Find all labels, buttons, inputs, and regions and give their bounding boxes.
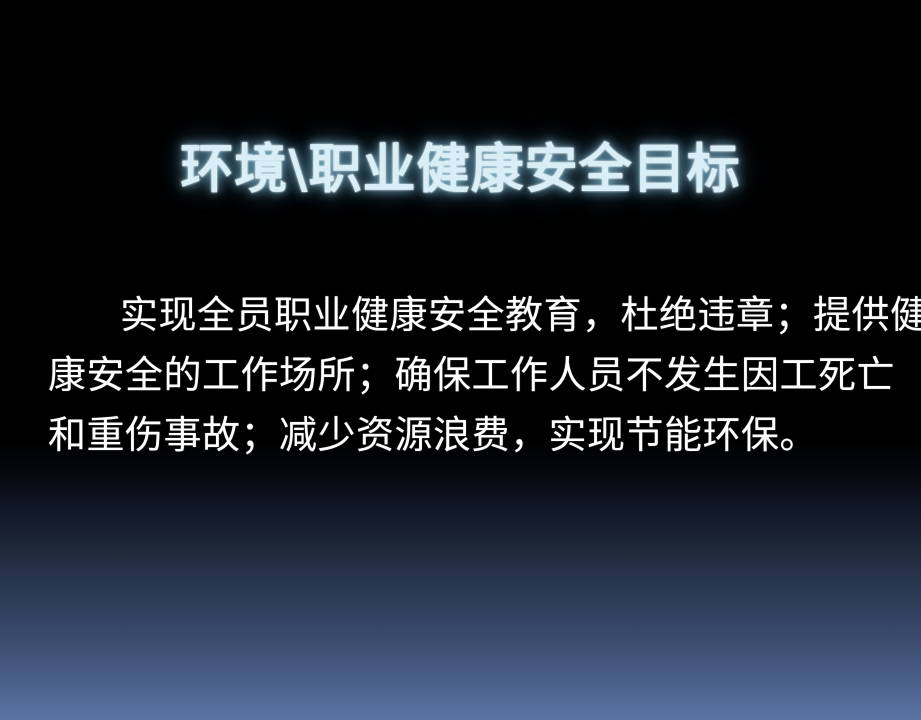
body-line: 和重伤事故；减少资源浪费，实现节能环保。 — [48, 406, 878, 466]
body-line: 实现全员职业健康安全教育，杜绝违章；提供健 — [48, 286, 878, 346]
slide-title-block: 环境\职业健康安全目标 环境\职业健康安全目标 — [0, 142, 921, 246]
presentation-slide: 环境\职业健康安全目标 环境\职业健康安全目标 实现全员职业健康安全教育，杜绝违… — [0, 0, 921, 720]
title-reflection: 环境\职业健康安全目标 — [180, 198, 740, 200]
title-reflection-container: 环境\职业健康安全目标 — [0, 198, 921, 246]
slide-body-text: 实现全员职业健康安全教育，杜绝违章；提供健 康安全的工作场所；确保工作人员不发生… — [48, 286, 878, 466]
page-title: 环境\职业健康安全目标 — [180, 142, 740, 198]
body-line: 康安全的工作场所；确保工作人员不发生因工死亡 — [48, 346, 878, 406]
